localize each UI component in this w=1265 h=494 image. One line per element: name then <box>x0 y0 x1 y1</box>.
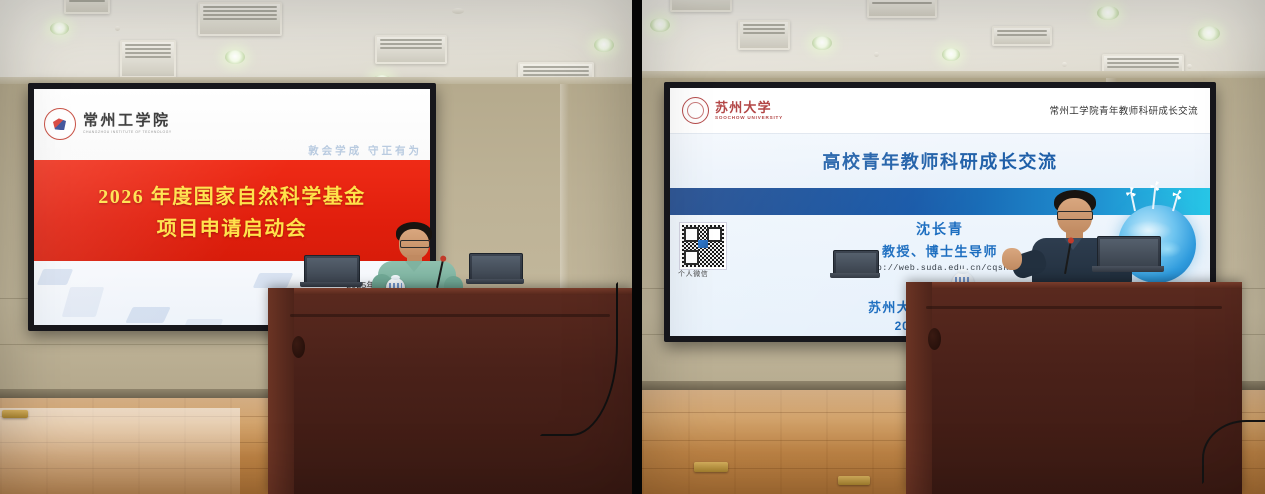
hvac-vent <box>198 2 282 36</box>
decorative-shape <box>125 307 170 323</box>
recessed-downlight <box>50 22 69 35</box>
laptop-lid <box>469 253 523 282</box>
smoke-detector <box>1062 62 1067 67</box>
podium-side-panel <box>268 288 294 494</box>
slide-header: 常州工学院 CHANGZHOU INSTITUTE OF TECHNOLOGY … <box>34 89 430 160</box>
smoke-detector <box>115 26 120 31</box>
decorative-shape <box>62 287 105 317</box>
hvac-vent <box>867 0 937 18</box>
speaker-name: 沈长青 <box>860 219 1020 239</box>
decorative-shape <box>37 269 73 285</box>
recessed-downlight <box>812 36 832 50</box>
qr-eye <box>707 227 722 242</box>
left-photo: 常州工学院 CHANGZHOU INSTITUTE OF TECHNOLOGY … <box>0 0 632 494</box>
slide-title-line-2: 项目申请启动会 <box>157 212 308 241</box>
eyeglasses-icon <box>1057 211 1093 220</box>
floor-outlet <box>2 410 28 418</box>
recessed-downlight <box>942 48 960 61</box>
floor-outlet <box>694 462 728 472</box>
institution-name-en: CHANGZHOU INSTITUTE OF TECHNOLOGY <box>83 131 172 134</box>
recessed-downlight <box>650 18 670 32</box>
podium-ledge <box>926 306 1222 309</box>
speaker-url: http://web.suda.edu.cn/cqshen <box>860 263 1020 273</box>
slide-title-text: 高校青年教师科研成长交流 <box>822 148 1057 174</box>
laptop-base <box>300 282 362 287</box>
speaker-role: 教授、博士生导师 <box>860 241 1020 260</box>
laptop-screen <box>1100 239 1158 266</box>
qr-eye <box>684 250 699 265</box>
podium <box>906 282 1242 494</box>
podium-knob <box>928 328 941 350</box>
changzhou-institute-logo-icon <box>44 108 76 140</box>
recessed-downlight <box>1097 6 1119 20</box>
slide-header: 苏州大学 SOOCHOW UNIVERSITY 常州工学院青年教师科研成长交流 <box>670 88 1210 134</box>
laptop-base <box>466 279 524 284</box>
recessed-downlight <box>594 38 614 52</box>
institution-name-en: SOOCHOW UNIVERSITY <box>715 116 783 121</box>
laptop-base <box>830 273 880 278</box>
ceiling-edge <box>642 71 1265 78</box>
right-photo: 苏州大学 SOOCHOW UNIVERSITY 常州工学院青年教师科研成长交流 … <box>642 0 1265 494</box>
speaker-info: 沈长青 教授、博士生导师 http://web.suda.edu.cn/cqsh… <box>860 219 1020 273</box>
decorative-shape <box>181 319 224 325</box>
eyeglasses-icon <box>400 240 430 248</box>
qr-center-logo <box>698 240 708 248</box>
institution-name-cn: 常州工学院 <box>83 114 172 129</box>
hvac-vent <box>738 20 790 50</box>
decorative-shape <box>253 273 294 288</box>
hvac-vent <box>375 35 447 64</box>
ceiling <box>0 0 632 84</box>
laptop-screen <box>307 258 357 282</box>
institution-name-cn: 苏州大学 <box>715 101 783 114</box>
laptop-screen <box>836 253 876 273</box>
soochow-university-logo-icon <box>682 97 709 124</box>
center-divider <box>632 0 642 494</box>
smoke-detector <box>452 8 464 14</box>
slide-title-band: 2026 年度国家自然科学基金 项目申请启动会 <box>34 160 430 261</box>
laptop-base <box>1092 266 1164 272</box>
institution-name: 苏州大学 SOOCHOW UNIVERSITY <box>715 101 783 121</box>
qr-eye <box>684 227 699 242</box>
laptop-lid <box>1097 236 1161 269</box>
hvac-vent <box>64 0 110 14</box>
smoke-detector <box>874 52 879 57</box>
room-right: 苏州大学 SOOCHOW UNIVERSITY 常州工学院青年教师科研成长交流 … <box>642 0 1265 494</box>
smoke-detector <box>1187 64 1192 69</box>
recessed-downlight <box>225 50 245 64</box>
podium-side-panel <box>906 282 932 494</box>
hand <box>1002 248 1022 270</box>
institution-name: 常州工学院 CHANGZHOU INSTITUTE OF TECHNOLOGY <box>83 114 172 134</box>
laptop-lid <box>304 255 360 285</box>
room-left: 常州工学院 CHANGZHOU INSTITUTE OF TECHNOLOGY … <box>0 0 632 494</box>
collar <box>405 261 423 272</box>
hvac-vent <box>120 40 176 78</box>
podium-knob <box>292 336 305 358</box>
hvac-vent <box>992 26 1052 46</box>
ceiling <box>642 0 1265 78</box>
podium-top <box>906 282 1242 289</box>
laptop <box>466 253 524 287</box>
recessed-downlight <box>1198 26 1220 41</box>
laptop-screen <box>472 256 520 279</box>
photo-pair: 常州工学院 CHANGZHOU INSTITUTE OF TECHNOLOGY … <box>0 0 1265 494</box>
floor-light-patch <box>0 408 240 494</box>
slide-motto: 敦会学成 守正有为 <box>308 143 422 158</box>
qr-code-icon <box>680 223 726 269</box>
slide-title-line-1: 2026 年度国家自然科学基金 <box>98 180 366 209</box>
slide-title: 高校青年教师科研成长交流 <box>670 134 1210 189</box>
floor-outlet <box>838 476 870 485</box>
hvac-vent <box>670 0 732 12</box>
laptop <box>300 255 362 289</box>
event-label: 常州工学院青年教师科研成长交流 <box>1049 103 1198 117</box>
laptop <box>830 250 880 280</box>
qr-caption: 个人微信 <box>678 269 708 279</box>
laptop <box>1092 236 1164 274</box>
